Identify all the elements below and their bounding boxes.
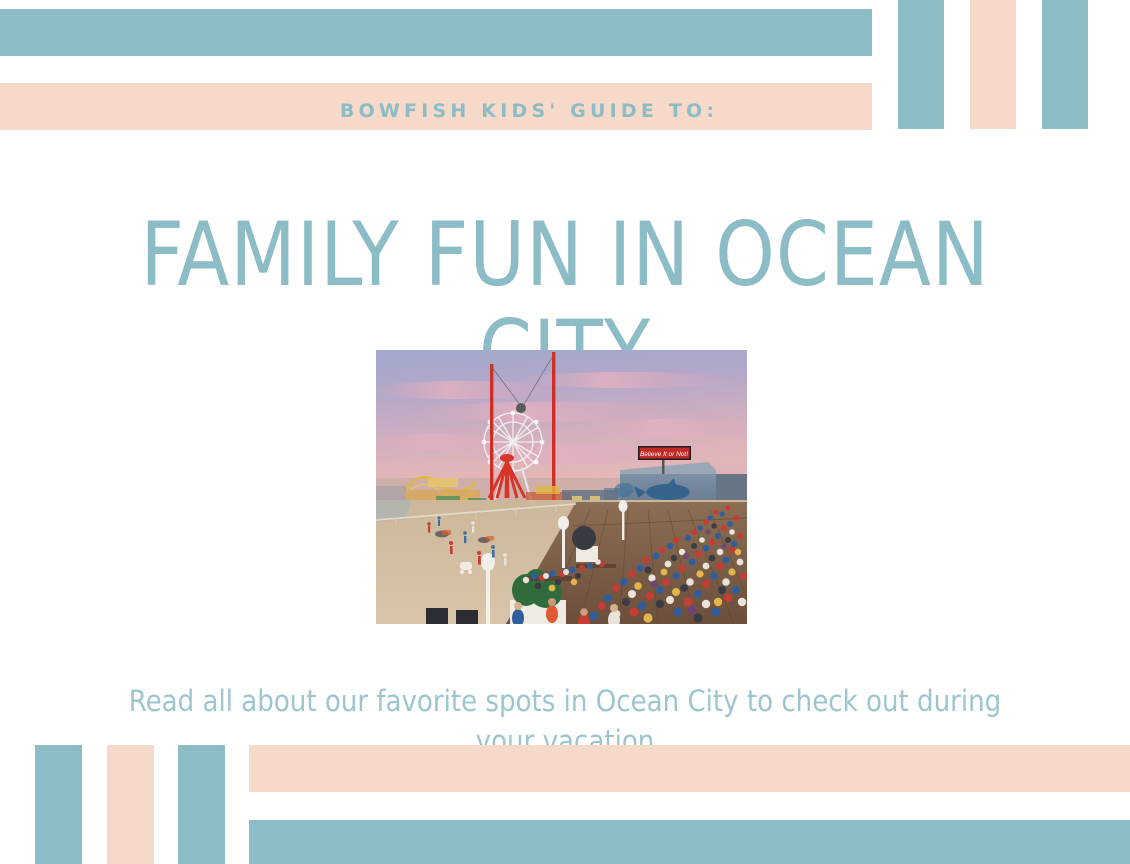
bottom-teal-band bbox=[249, 820, 1130, 864]
hero-photo: Believe It or Not! bbox=[376, 350, 747, 624]
bottom-vertical-bar-teal-1 bbox=[35, 745, 82, 864]
poster-canvas: BOWFISH KIDS' GUIDE TO: FAMILY FUN IN OC… bbox=[0, 0, 1130, 864]
bottom-peach-band bbox=[249, 745, 1130, 792]
bottom-vertical-bar-teal-2 bbox=[178, 745, 225, 864]
svg-text:Believe It or Not!: Believe It or Not! bbox=[640, 451, 688, 458]
boardwalk-sunset-illustration: Believe It or Not! bbox=[376, 350, 747, 624]
eyebrow-text: BOWFISH KIDS' GUIDE TO: bbox=[0, 98, 1058, 124]
top-teal-band bbox=[0, 9, 872, 56]
bottom-vertical-bar-peach bbox=[107, 745, 154, 864]
